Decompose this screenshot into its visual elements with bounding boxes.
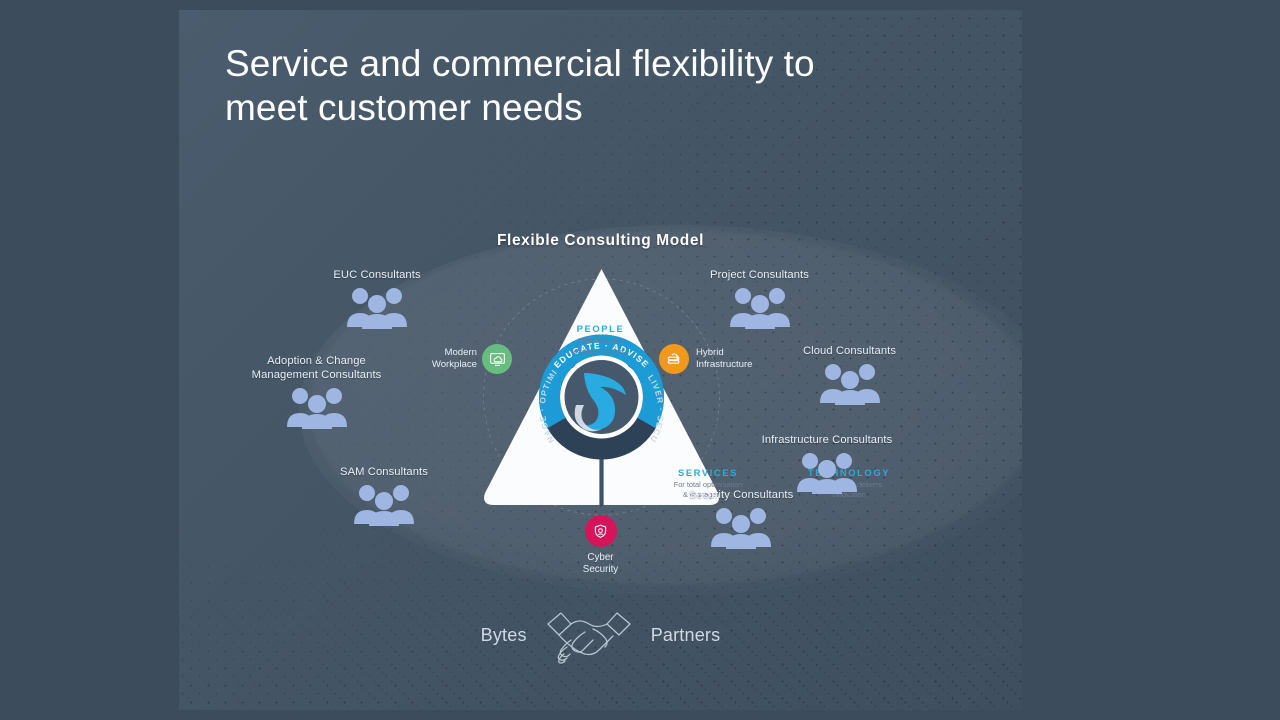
bytes-partners-block: Bytes Partners: [179, 602, 1022, 669]
badge-hybrid-infrastructure[interactable]: Hybrid Infrastructure: [659, 340, 799, 386]
group-sam-consultants-label: SAM Consultants: [304, 465, 464, 479]
people-group-icon: [677, 285, 842, 329]
badge-cyber-security[interactable]: Cyber Security: [179, 515, 1022, 576]
screenshot-root: Service and commercial flexibility to me…: [0, 0, 1280, 720]
group-euc-consultants[interactable]: EUC Consultants: [302, 268, 452, 329]
badge-cyber-security-label: Cyber Security: [179, 552, 1022, 576]
group-adoption-change-consultants-label: Adoption & Change Management Consultants: [214, 354, 419, 382]
people-group-icon: [302, 285, 452, 329]
people-group-icon: [214, 385, 419, 429]
group-project-consultants-label: Project Consultants: [677, 268, 842, 282]
group-project-consultants[interactable]: Project Consultants: [677, 268, 842, 329]
group-euc-consultants-label: EUC Consultants: [302, 268, 452, 282]
group-adoption-change-consultants[interactable]: Adoption & Change Management Consultants: [214, 354, 419, 429]
group-security-consultants-label: Security Consultants: [646, 488, 836, 502]
group-infrastructure-consultants[interactable]: Infrastructure Consultants: [717, 433, 937, 494]
badge-hybrid-infrastructure-label: Hybrid Infrastructure: [696, 347, 796, 370]
shield-lock-icon: [585, 515, 617, 547]
badge-modern-workplace[interactable]: Modern Workplace: [417, 340, 547, 386]
handshake-icon: [537, 602, 641, 669]
monitor-cloud-icon: [482, 344, 512, 374]
presentation-slide: Service and commercial flexibility to me…: [179, 10, 1022, 710]
partners-right-word: Partners: [651, 625, 721, 646]
partners-left-word: Bytes: [481, 625, 527, 646]
group-infrastructure-consultants-label: Infrastructure Consultants: [717, 433, 937, 447]
badge-modern-workplace-label: Modern Workplace: [417, 347, 477, 370]
diagram-heading: Flexible Consulting Model: [179, 232, 1022, 250]
server-cloud-icon: [659, 344, 689, 374]
